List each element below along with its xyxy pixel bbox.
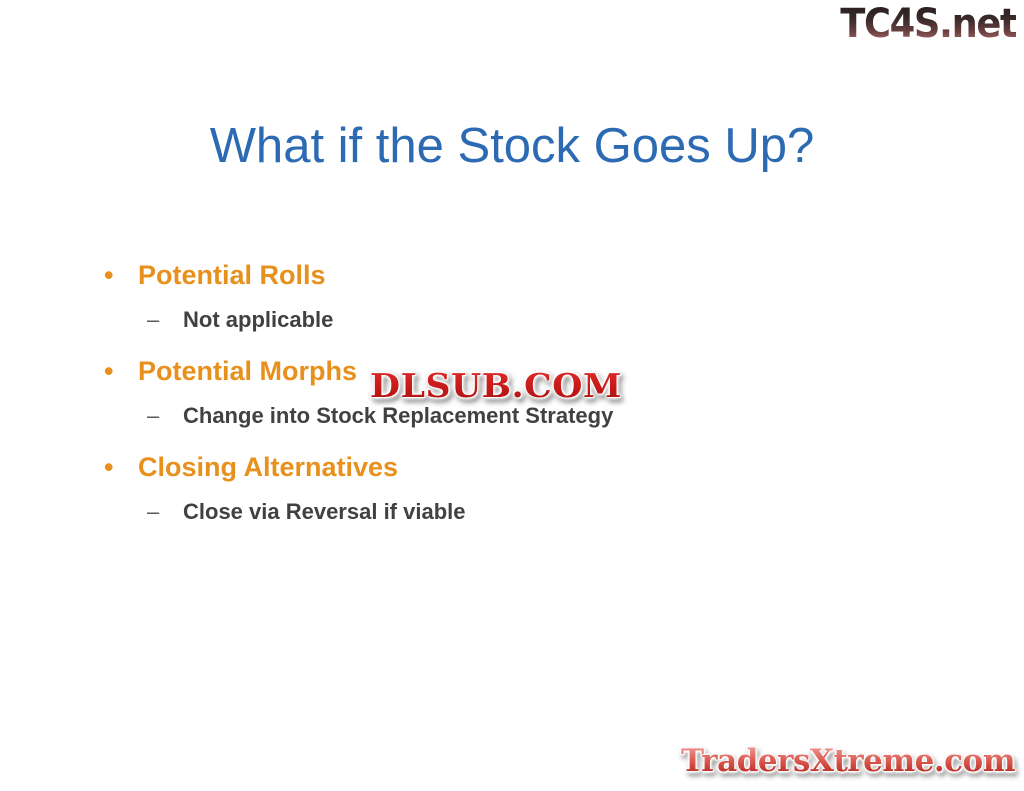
bullet-heading-label: Potential Morphs — [138, 356, 357, 386]
bullet-subitem-label: Not applicable — [183, 307, 333, 332]
bullet-dot-icon: • — [104, 444, 113, 490]
bullet-heading: • Potential Rolls — [95, 252, 955, 298]
dash-bullet-icon: – — [147, 490, 159, 534]
presentation-slide: TC4S.net What if the Stock Goes Up? • Po… — [0, 0, 1024, 791]
bullet-heading-label: Potential Rolls — [138, 260, 326, 290]
bullet-subitem-label: Change into Stock Replacement Strategy — [183, 403, 613, 428]
bullet-dot-icon: • — [104, 348, 113, 394]
bullet-subitem-label: Close via Reversal if viable — [183, 499, 466, 524]
page-title: What if the Stock Goes Up? — [0, 118, 1024, 174]
bullet-subitem: – Not applicable — [95, 298, 955, 342]
tc4s-brand-logo: TC4S.net — [840, 2, 1016, 47]
dlsub-watermark: DLSUB.COM — [370, 366, 622, 405]
tradersxtreme-footer-logo: TradersXtreme.com — [681, 743, 1015, 779]
bullet-heading-label: Closing Alternatives — [138, 452, 398, 482]
bullet-group: • Closing Alternatives – Close via Rever… — [95, 444, 955, 534]
bullet-group: • Potential Rolls – Not applicable — [95, 252, 955, 342]
bullet-subitem: – Close via Reversal if viable — [95, 490, 955, 534]
bullet-dot-icon: • — [104, 252, 113, 298]
bullet-heading: • Closing Alternatives — [95, 444, 955, 490]
dash-bullet-icon: – — [147, 298, 159, 342]
dash-bullet-icon: – — [147, 394, 159, 438]
